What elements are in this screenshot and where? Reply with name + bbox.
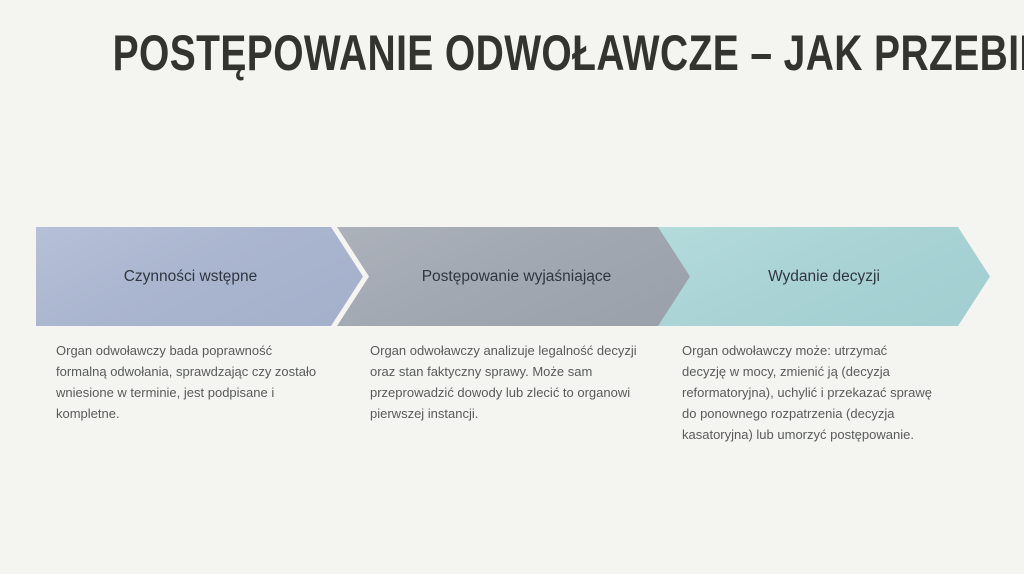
- process-chevron-band: Czynności wstępne Postępowanie wyjaśniaj…: [0, 227, 1024, 326]
- process-step-3-description: Organ odwoławczy może: utrzymać decyzję …: [682, 340, 934, 445]
- process-step-1-label: Czynności wstępne: [124, 268, 276, 286]
- process-step-3-chevron[interactable]: Wydanie decyzji: [658, 227, 990, 326]
- page-title: POSTĘPOWANIE ODWOŁAWCZE – JAK PRZEBIEGA: [113, 26, 912, 80]
- process-step-2-chevron[interactable]: Postępowanie wyjaśniające: [337, 227, 696, 326]
- process-descriptions: Organ odwoławczy bada poprawność formaln…: [0, 340, 1024, 520]
- process-step-1-chevron[interactable]: Czynności wstępne: [36, 227, 363, 326]
- process-step-1-description: Organ odwoławczy bada poprawność formaln…: [56, 340, 318, 424]
- process-step-2-label: Postępowanie wyjaśniające: [404, 268, 630, 286]
- process-step-2-description: Organ odwoławczy analizuje legalność dec…: [370, 340, 638, 424]
- process-step-3-label: Wydanie decyzji: [750, 268, 898, 286]
